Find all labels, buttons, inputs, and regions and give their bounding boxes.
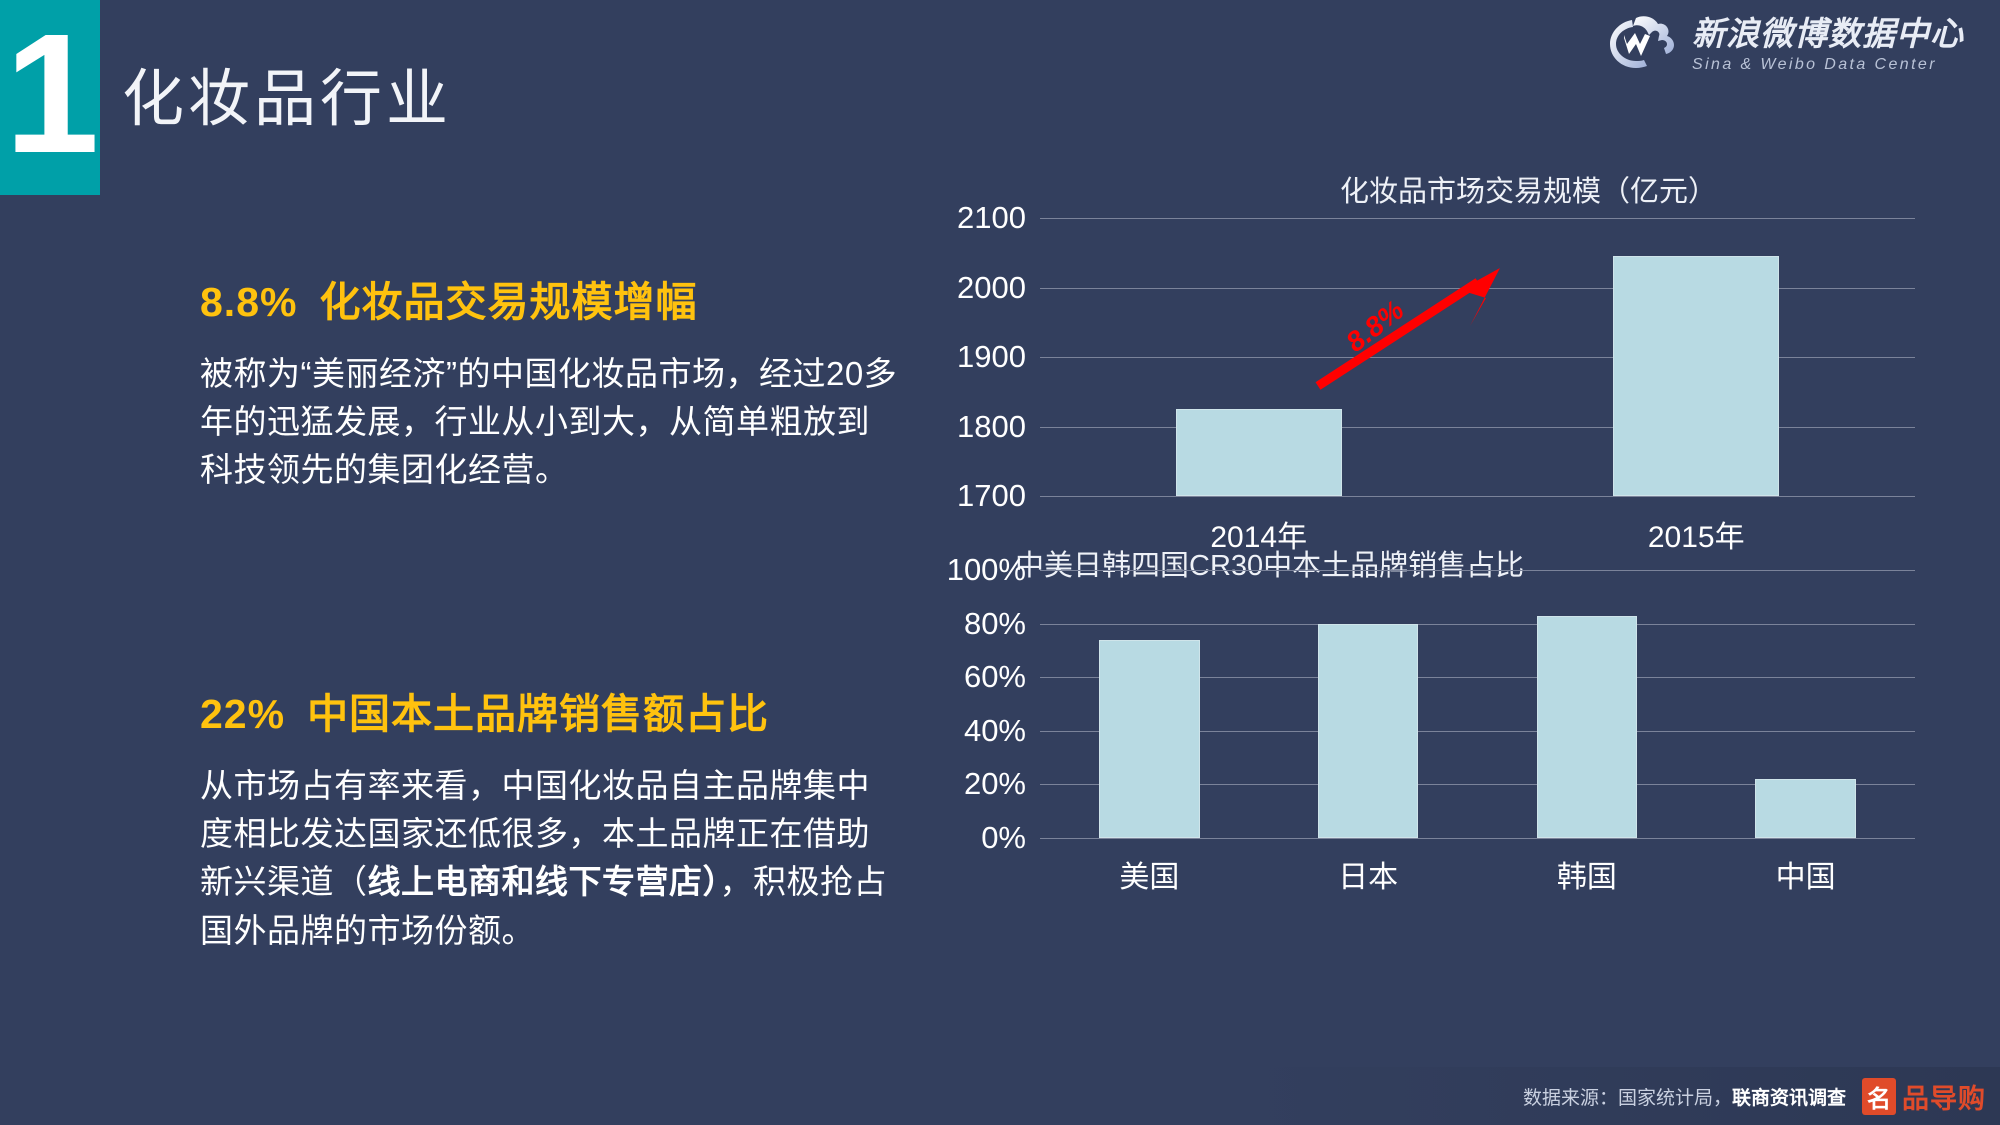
watermark-label: 品导购	[1902, 1077, 1986, 1116]
brand-logo: 新浪微博数据中心 Sina & Weibo Data Center	[1606, 12, 1964, 78]
gridline	[1040, 496, 1915, 497]
gridline	[1040, 218, 1915, 219]
stat-percent: 8.8%	[200, 279, 297, 325]
paragraph-part-2-bold: 线上电商和线下专营店）	[368, 863, 720, 900]
chart-plot-area: 8.8% 170018001900200021002014年2015年	[1040, 218, 1915, 496]
chart-market-size: 化妆品市场交易规模（亿元） 8.8% 170018001900200021002…	[925, 196, 1925, 496]
x-axis-tick-label: 中国	[1776, 852, 1836, 896]
bar	[1318, 624, 1419, 838]
watermark: 名 品导购	[1862, 1077, 1986, 1116]
gridline	[1040, 624, 1915, 625]
bar	[1176, 409, 1342, 496]
x-axis-tick-label: 韩国	[1557, 852, 1617, 896]
stat-paragraph: 从市场占有率来看，中国化妆品自主品牌集中度相比发达国家还低很多，本土品牌正在借助…	[200, 762, 900, 955]
bar	[1537, 616, 1638, 838]
y-axis-tick-label: 1800	[957, 409, 1026, 445]
footer: 数据来源：国家统计局，联商资讯调查 名 品导购	[0, 1067, 2000, 1125]
gridline	[1040, 427, 1915, 428]
chart-local-brand-share: 中美日韩四国CR30中本土品牌销售占比 0%20%40%60%80%100%美国…	[925, 548, 1925, 838]
data-source-org: 联商资讯调查	[1732, 1088, 1846, 1109]
logo-title-cn: 新浪微博数据中心	[1692, 17, 1964, 50]
gridline	[1040, 570, 1915, 571]
y-axis-tick-label: 1900	[957, 339, 1026, 375]
bar	[1099, 640, 1200, 838]
stat-block-local-brand: 22%中国本土品牌销售额占比 从市场占有率来看，中国化妆品自主品牌集中度相比发达…	[200, 680, 900, 955]
stat-heading: 8.8%化妆品交易规模增幅	[200, 268, 900, 328]
chart-title: 化妆品市场交易规模（亿元）	[1340, 168, 1717, 210]
stat-heading-label: 中国本土品牌销售额占比	[307, 691, 769, 737]
stat-heading: 22%中国本土品牌销售额占比	[200, 680, 900, 740]
bar	[1613, 256, 1779, 496]
data-source-note: 数据来源：国家统计局，联商资讯调查	[1523, 1083, 1846, 1110]
chart-plot-area: 0%20%40%60%80%100%美国日本韩国中国	[1040, 570, 1915, 838]
stat-paragraph: 被称为“美丽经济”的中国化妆品市场，经过20多年的迅猛发展，行业从小到大，从简单…	[200, 350, 900, 495]
data-source-text: 数据来源：国家统计局，	[1523, 1088, 1732, 1109]
y-axis-tick-label: 80%	[964, 606, 1026, 642]
stat-heading-label: 化妆品交易规模增幅	[319, 279, 697, 325]
y-axis-tick-label: 40%	[964, 713, 1026, 749]
weibo-cloud-logo-icon	[1606, 12, 1678, 78]
growth-arrow-annotation: 8.8%	[1310, 248, 1540, 398]
y-axis-tick-label: 20%	[964, 766, 1026, 802]
x-axis-tick-label: 美国	[1119, 852, 1179, 896]
y-axis-tick-label: 60%	[964, 659, 1026, 695]
stat-percent: 22%	[200, 691, 285, 737]
watermark-box: 名	[1862, 1078, 1896, 1115]
slide-number-badge: 1	[0, 0, 100, 195]
y-axis-tick-label: 2100	[957, 200, 1026, 236]
y-axis-tick-label: 100%	[947, 552, 1026, 588]
gridline	[1040, 838, 1915, 839]
x-axis-tick-label: 日本	[1338, 852, 1398, 896]
y-axis-tick-label: 1700	[957, 478, 1026, 514]
y-axis-tick-label: 2000	[957, 270, 1026, 306]
slide-number: 1	[5, 9, 96, 179]
bar	[1755, 779, 1856, 838]
page-title: 化妆品行业	[122, 48, 452, 138]
logo-title-en: Sina & Weibo Data Center	[1692, 57, 1964, 73]
stat-block-growth: 8.8%化妆品交易规模增幅 被称为“美丽经济”的中国化妆品市场，经过20多年的迅…	[200, 268, 900, 495]
y-axis-tick-label: 0%	[981, 820, 1026, 856]
